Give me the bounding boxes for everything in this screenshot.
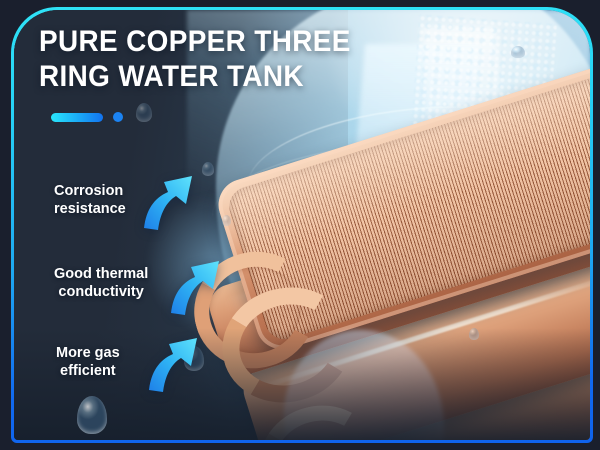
gradient-bar-icon [51,113,103,122]
banner-content-area: PURE COPPER THREE RING WATER TANK Corros… [14,10,590,440]
feature-more-gas-efficient: More gas efficient [56,344,120,381]
water-droplet-icon [136,103,152,122]
feature-label: Good thermal conductivity [54,265,148,302]
product-banner: PURE COPPER THREE RING WATER TANK Corros… [0,0,600,450]
dot-icon [113,112,123,122]
feature-corrosion-resistance: Corrosion resistance [54,182,126,219]
banner-headline: PURE COPPER THREE RING WATER TANK [39,25,392,95]
arrow-up-right-icon [147,332,203,394]
feature-label: Corrosion resistance [54,182,126,219]
arrow-up-right-icon [169,255,225,317]
water-droplet-icon [222,215,231,226]
water-droplet-icon [469,328,479,340]
water-droplet-icon [77,396,107,434]
feature-label: More gas efficient [56,344,120,381]
banner-border-frame: PURE COPPER THREE RING WATER TANK Corros… [11,7,593,443]
headline-divider [51,112,123,122]
water-droplet-icon [511,46,525,58]
water-droplet-icon [202,162,214,176]
arrow-up-right-icon [142,170,198,232]
feature-good-thermal-conductivity: Good thermal conductivity [54,265,148,302]
